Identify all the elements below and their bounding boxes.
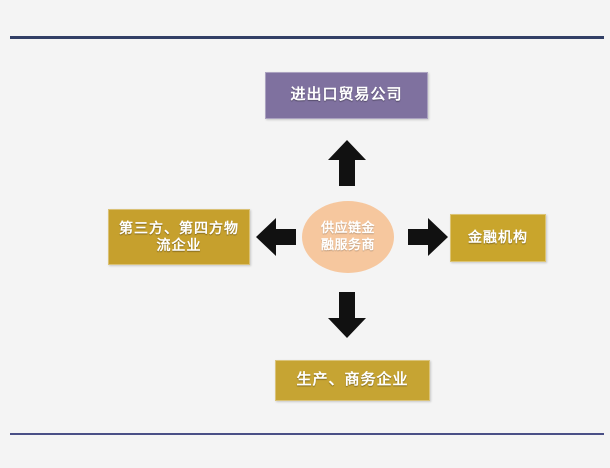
- top-divider-line: [10, 36, 604, 39]
- node-label-line-1: 第三方、第四方物: [119, 220, 239, 236]
- diagram-node-production-commerce-enterprises[interactable]: 生产、商务企业: [275, 360, 430, 401]
- diagram-node-import-export-trading[interactable]: 进出口贸易公司: [265, 72, 428, 119]
- bottom-divider-line: [10, 433, 604, 435]
- diagram-node-financial-institutions[interactable]: 金融机构: [450, 214, 546, 262]
- arrow-left-icon: [256, 218, 296, 256]
- node-label-stack: 第三方、第四方物 流企业: [119, 220, 239, 255]
- arrow-right-icon: [408, 218, 448, 256]
- arrow-up-icon: [328, 140, 366, 186]
- slide-canvas: 进出口贸易公司 第三方、第四方物 流企业 金融机构 生产、商务企业 供应链金 融…: [0, 0, 610, 468]
- node-label-line-2: 流企业: [157, 237, 202, 253]
- diagram-center-supply-chain-finance-provider[interactable]: 供应链金 融服务商: [302, 201, 394, 273]
- center-label-line-1: 供应链金: [321, 220, 375, 235]
- center-label-stack: 供应链金 融服务商: [321, 220, 375, 254]
- diagram-node-third-fourth-party-logistics[interactable]: 第三方、第四方物 流企业: [108, 209, 250, 265]
- arrow-down-icon: [328, 292, 366, 338]
- center-label-line-2: 融服务商: [321, 237, 375, 252]
